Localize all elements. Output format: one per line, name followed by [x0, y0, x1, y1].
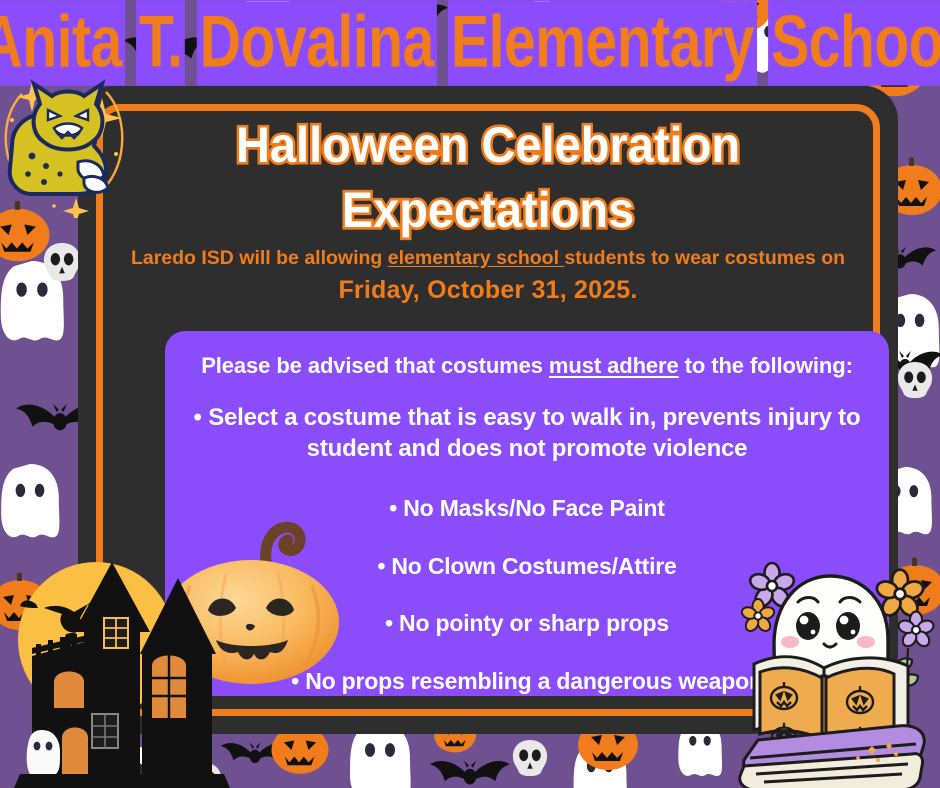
list-item: • Select a costume that is easy to walk … — [165, 403, 889, 464]
card-content: Halloween Celebration Expectations Lared… — [110, 116, 866, 704]
expectations-panel: Please be advised that costumes must adh… — [165, 331, 889, 696]
page-title: Anita T. Dovalina Elementary School — [0, 6, 940, 79]
title-word-2: Dovalina — [199, 2, 435, 83]
headline-line-2: Expectations — [130, 177, 846, 242]
title-word-1: T. — [138, 2, 183, 83]
subtitle-before: Laredo ISD will be allowing — [131, 247, 388, 269]
panel-lead-text: Please be advised that costumes must adh… — [165, 353, 889, 379]
list-item: • No Masks/No Face Paint — [165, 495, 889, 522]
lead-underlined: must adhere — [549, 353, 679, 378]
list-item: • No pointy or sharp props — [165, 610, 889, 637]
expectations-panel-inner: Please be advised that costumes must adh… — [165, 331, 889, 695]
expectations-list: • Select a costume that is easy to walk … — [165, 403, 889, 695]
title-word-0: Anita — [0, 2, 123, 83]
event-date: Friday, October 31, 2025. — [110, 276, 866, 305]
school-name-banner: Anita T. Dovalina Elementary School — [0, 0, 940, 86]
headline-line-1: Halloween Celebration — [130, 112, 846, 177]
list-item: • No props resembling a dangerous weapon — [165, 668, 889, 695]
bullet-text-line2: and does not promote violence — [398, 435, 747, 462]
lead-before: Please be advised that costumes — [201, 353, 549, 378]
headline: Halloween Celebration Expectations — [110, 112, 866, 242]
list-item: • No Clown Costumes/Attire — [165, 553, 889, 580]
title-word-3: Elementary — [450, 2, 755, 83]
subtitle-line: Laredo ISD will be allowing elementary s… — [110, 246, 866, 270]
lead-after: to the following: — [679, 353, 853, 378]
flyer-card: Halloween Celebration Expectations Lared… — [78, 86, 898, 734]
subtitle-underlined: elementary school — [388, 247, 565, 269]
subtitle-after: students to wear costumes on — [564, 247, 845, 269]
title-word-4: School — [770, 2, 940, 83]
